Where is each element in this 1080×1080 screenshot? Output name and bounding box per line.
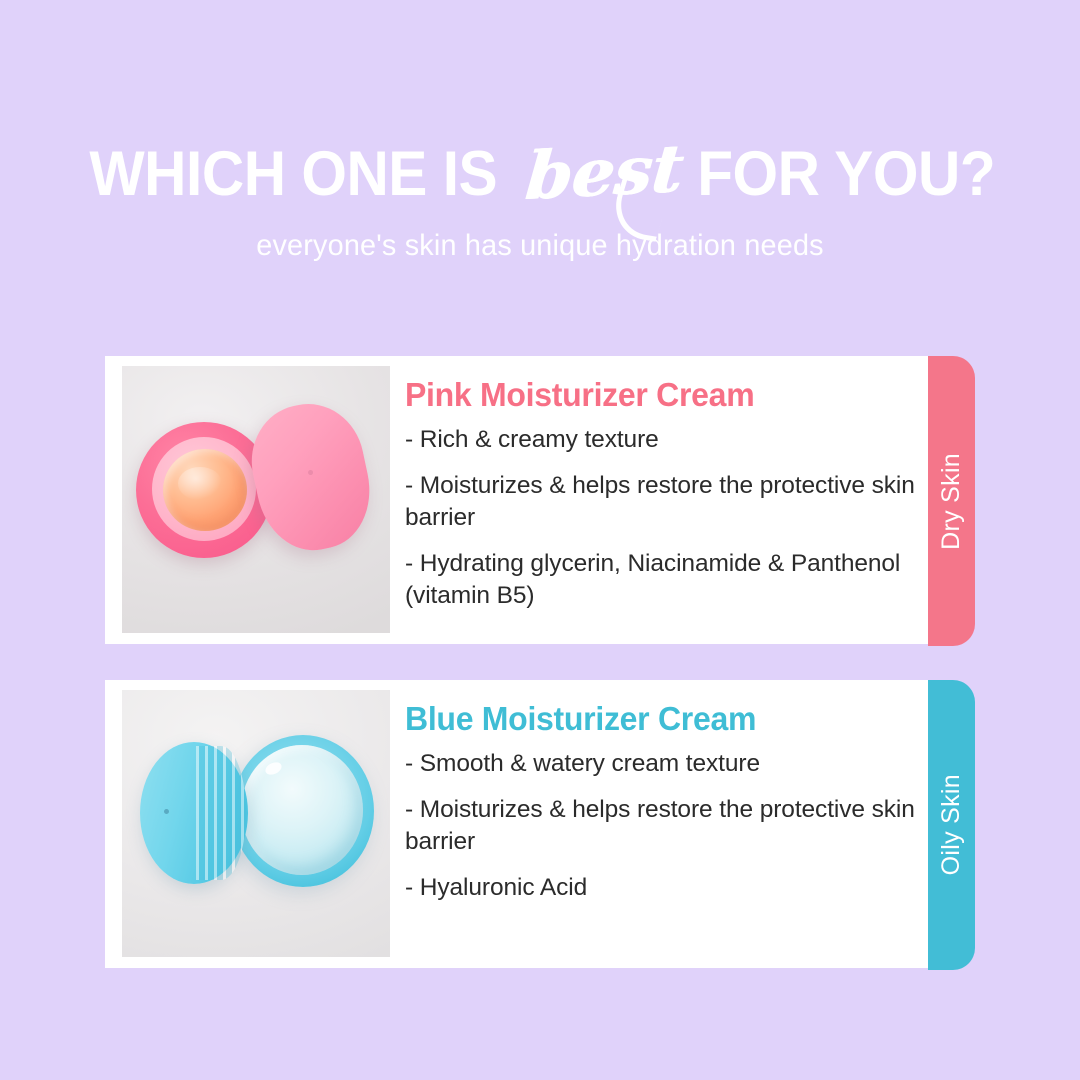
product-photo-pink	[122, 366, 390, 633]
poster-canvas: WHICH ONE ISbestFOR YOU? everyone's skin…	[0, 0, 1080, 1080]
product-card-blue[interactable]: Blue Moisturizer Cream - Smooth & watery…	[105, 680, 930, 968]
list-item: - Rich & creamy texture	[405, 424, 915, 457]
list-item: - Hyaluronic Acid	[405, 872, 915, 905]
blue-jar-base-icon	[232, 735, 374, 887]
blue-lid-ridges-icon	[196, 746, 246, 880]
pink-jar-base-icon	[136, 422, 272, 558]
product-card-pink[interactable]: Pink Moisturizer Cream - Rich & creamy t…	[105, 356, 930, 644]
header: WHICH ONE ISbestFOR YOU? everyone's skin…	[0, 0, 1080, 320]
skin-type-tab-oily[interactable]: Oily Skin	[928, 680, 975, 970]
card-heading-blue: Blue Moisturizer Cream	[405, 700, 900, 738]
pink-cream-surface-icon	[163, 449, 247, 531]
list-item: - Moisturizes & helps restore the protec…	[405, 794, 915, 859]
page-title: WHICH ONE ISbestFOR YOU?	[0, 139, 1080, 206]
feature-list-pink: - Rich & creamy texture - Moisturizes & …	[405, 424, 915, 613]
blue-gel-surface-icon	[241, 745, 363, 875]
card-body-blue: Blue Moisturizer Cream - Smooth & watery…	[405, 700, 915, 904]
list-item: - Moisturizes & helps restore the protec…	[405, 470, 915, 535]
feature-list-blue: - Smooth & watery cream texture - Moistu…	[405, 748, 915, 904]
list-item: - Smooth & watery cream texture	[405, 748, 915, 781]
card-heading-pink: Pink Moisturizer Cream	[405, 376, 900, 414]
page-subtitle: everyone's skin has unique hydration nee…	[22, 229, 1059, 263]
product-photo-blue	[122, 690, 390, 957]
skin-type-tab-label: Oily Skin	[937, 774, 966, 875]
skin-type-tab-label: Dry Skin	[937, 453, 966, 550]
title-part-after: FOR YOU?	[697, 143, 995, 206]
title-script-word: best	[524, 135, 687, 209]
title-part-before: WHICH ONE IS	[89, 143, 497, 206]
skin-type-tab-dry[interactable]: Dry Skin	[928, 356, 975, 646]
card-body-pink: Pink Moisturizer Cream - Rich & creamy t…	[405, 376, 915, 613]
list-item: - Hydrating glycerin, Niacinamide & Pant…	[405, 548, 915, 613]
